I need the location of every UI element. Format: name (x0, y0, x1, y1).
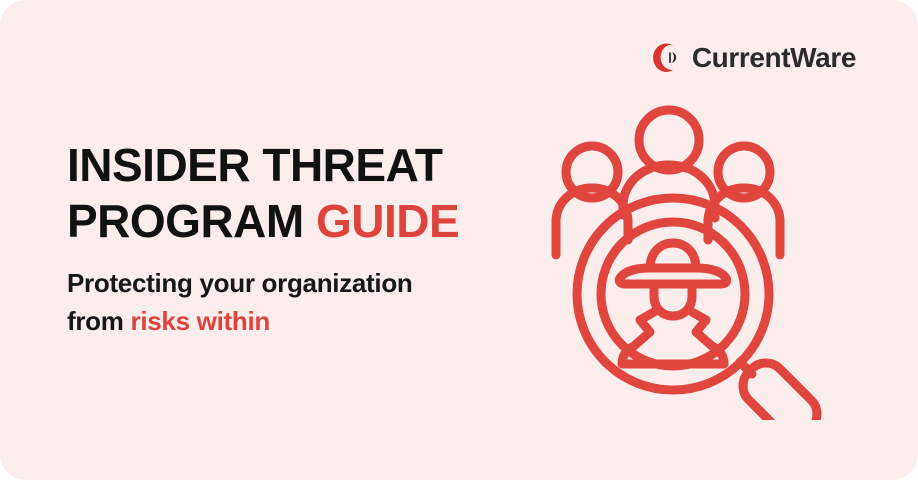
headline-line-2-plain: PROGRAM (67, 195, 316, 247)
magnifier-handle (735, 355, 826, 420)
subhead-line-2-plain: from (67, 306, 131, 336)
insider-threat-illustration-svg (530, 100, 830, 420)
currentware-c-mark-icon (647, 40, 683, 76)
spy-figure-hat-brim (619, 268, 727, 284)
headline-line-2: PROGRAM GUIDE (67, 193, 497, 249)
spy-figure-head (654, 284, 692, 316)
headline-line-1: INSIDER THREAT (67, 137, 497, 193)
insider-threat-magnifier-illustration (530, 100, 830, 420)
brand-wordmark: CurrentWare (692, 44, 856, 72)
subhead-line-1: Protecting your organization (67, 265, 497, 303)
headline-line-2-accent: GUIDE (316, 195, 459, 247)
subhead-line-2: from risks within (67, 303, 497, 341)
ebook-cover-card: CurrentWare INSIDER THREAT PROGRAM GUIDE… (0, 0, 918, 480)
spy-figure (619, 243, 727, 364)
subhead-line-2-accent: risks within (131, 306, 270, 336)
page-subtitle: Protecting your organization from risks … (67, 265, 497, 340)
cover-text-block: INSIDER THREAT PROGRAM GUIDE Protecting … (67, 137, 497, 341)
page-title: INSIDER THREAT PROGRAM GUIDE (67, 137, 497, 249)
brand-logo: CurrentWare (647, 40, 856, 76)
